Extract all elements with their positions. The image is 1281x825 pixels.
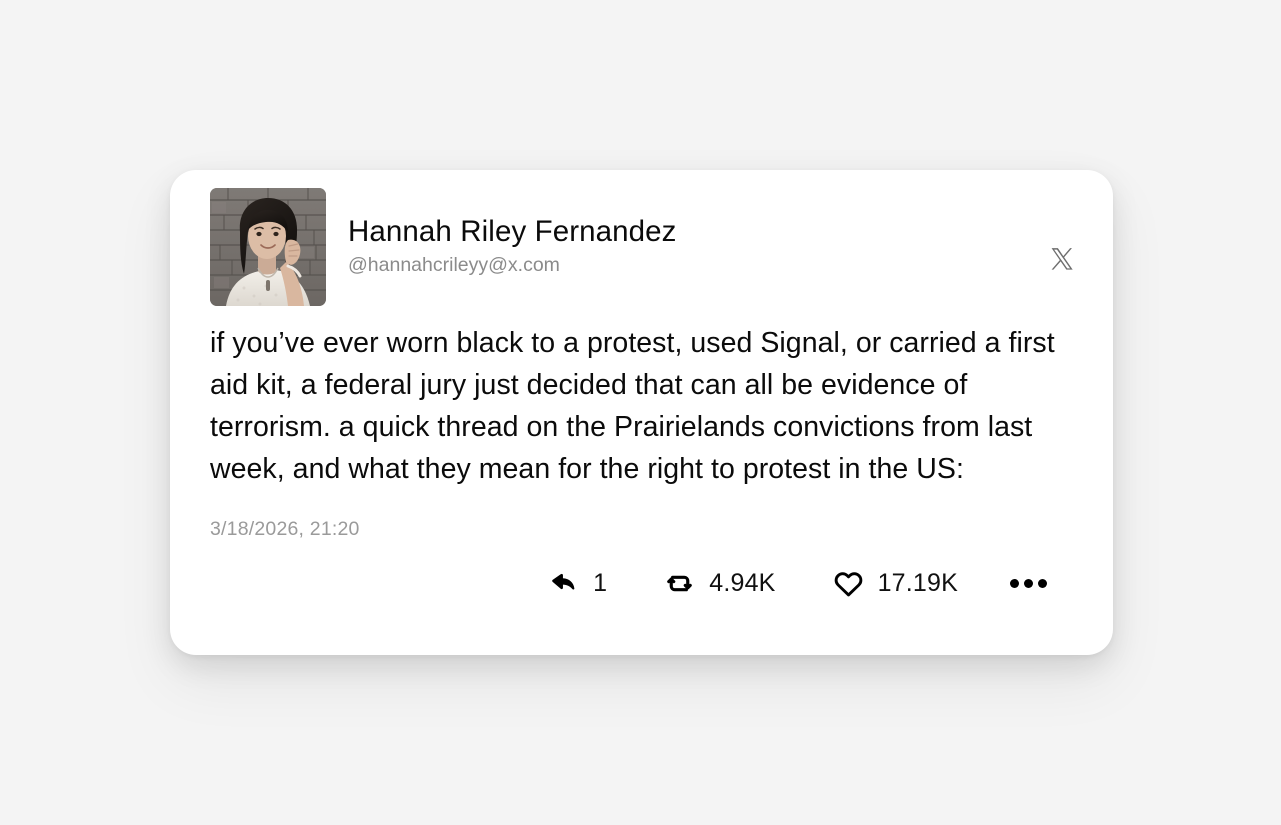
tweet-text: if you’ve ever worn black to a protest, … [210,322,1070,490]
author-identity: Hannah Riley Fernandez @hannahcrileyy@x.… [348,188,677,277]
more-horizontal-icon [1038,579,1047,588]
avatar[interactable] [210,188,326,306]
heart-icon [832,567,865,600]
reply-count: 1 [593,571,607,596]
more-horizontal-icon [1024,579,1033,588]
author-handle: @hannahcrileyy@x.com [348,254,677,277]
reply-stat[interactable]: 1 [547,567,607,600]
reply-arrow-icon [547,567,580,600]
tweet-card: Hannah Riley Fernandez @hannahcrileyy@x.… [170,170,1113,655]
more-options-button[interactable] [1010,579,1047,588]
engagement-bar: 1 4.94K 1 [210,567,1075,600]
screen-background: Hannah Riley Fernandez @hannahcrileyy@x.… [0,0,1281,825]
like-stat[interactable]: 17.19K [832,567,958,600]
like-count: 17.19K [878,571,958,596]
repost-stat[interactable]: 4.94K [663,567,775,600]
tweet-timestamp: 3/18/2026, 21:20 [210,518,1075,541]
repost-count: 4.94K [709,571,775,596]
more-horizontal-icon [1010,579,1019,588]
avatar-photo [210,188,326,306]
author-display-name: Hannah Riley Fernandez [348,215,677,250]
repost-icon [663,567,696,600]
x-logo-icon [1049,246,1075,272]
tweet-header: Hannah Riley Fernandez @hannahcrileyy@x.… [210,188,1075,306]
